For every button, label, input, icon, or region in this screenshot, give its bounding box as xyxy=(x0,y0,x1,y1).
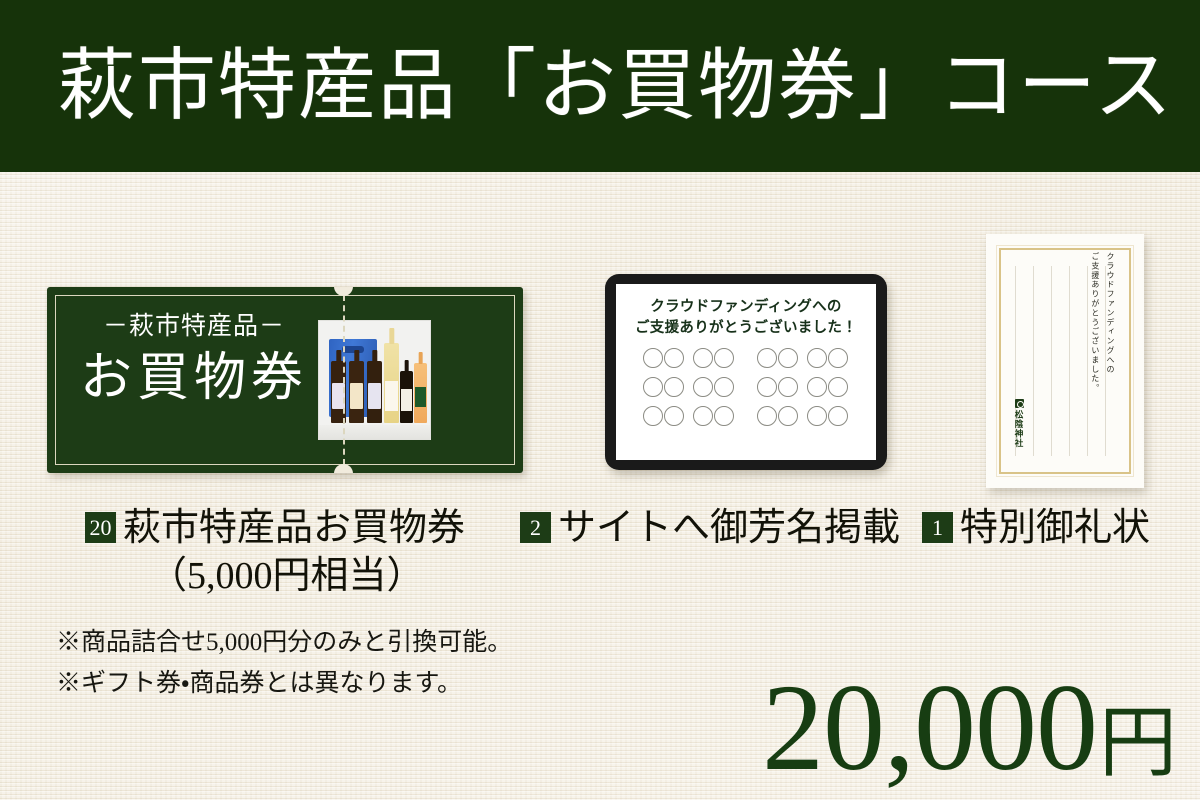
reward-item-name-listing: 2 サイトへ御芳名掲載 xyxy=(520,505,900,553)
soy-sauce-bottle-icon xyxy=(400,371,413,423)
name-circle xyxy=(664,348,684,368)
reward-label: 特別御礼状 xyxy=(960,505,1150,553)
letter-ruling xyxy=(1051,266,1052,456)
name-circle xyxy=(807,406,827,426)
quantity-badge: 20 xyxy=(85,512,116,543)
seal-mark-icon xyxy=(1015,399,1024,408)
name-circle xyxy=(714,406,734,426)
note-line: ※ギフト券・商品券とは異なります。 xyxy=(56,664,512,705)
letter-ruling xyxy=(1069,266,1070,456)
voucher-main-label: お買物券 xyxy=(69,349,319,409)
name-circle xyxy=(778,377,798,397)
name-circle xyxy=(757,377,777,397)
name-circle xyxy=(714,348,734,368)
grid-row xyxy=(628,348,864,368)
shopping-voucher-card: －萩市特産品－ お買物券 xyxy=(47,287,523,473)
price-currency: 円 xyxy=(1099,704,1176,782)
reward-item-thank-you-letter: 1 特別御礼状 xyxy=(922,505,1150,553)
letter-ruling xyxy=(1033,266,1034,456)
thank-you-letter: クラウドファンディングへの ご支援ありがとうございました。 松陰神社 xyxy=(986,234,1144,488)
quantity-badge: 2 xyxy=(520,512,551,543)
reward-caption-row: 20 萩市特産品お買物券 （5,000円相当） 2 サイトへ御芳名掲載 1 特別… xyxy=(0,505,1200,600)
name-circle xyxy=(828,377,848,397)
tablet-message-line1: クラウドファンディングへの xyxy=(616,297,876,318)
name-circle xyxy=(757,348,777,368)
name-circle xyxy=(828,406,848,426)
name-circle xyxy=(664,406,684,426)
name-circle xyxy=(693,348,713,368)
tablet-screen: クラウドファンディングへの ご支援ありがとうございました！ xyxy=(616,284,876,460)
notes-block: ※商品詰合せ5,000円分のみと引換可能。 ※ギフト券・商品券とは異なります。 xyxy=(56,623,512,704)
letter-text-line1: クラウドファンディングへの xyxy=(1103,252,1118,442)
page-title: 萩市特産品「お買物券」コース xyxy=(0,47,1174,125)
shrine-seal: 松陰神社 xyxy=(1013,399,1025,448)
reward-item-voucher: 20 萩市特産品お買物券 （5,000円相当） xyxy=(85,505,465,600)
tablet-message-line2: ご支援ありがとうございました！ xyxy=(616,318,876,339)
grid-row xyxy=(628,377,864,397)
name-circle xyxy=(643,377,663,397)
name-circle xyxy=(643,348,663,368)
name-circle xyxy=(693,377,713,397)
course-card-page: 萩市特産品「お買物券」コース －萩市特産品－ お買物券 クラウドファンディングへ… xyxy=(0,0,1200,800)
name-circle xyxy=(714,377,734,397)
reward-label: 萩市特産品お買物券 （5,000円相当） xyxy=(123,505,465,600)
reward-label-line2: （5,000円相当） xyxy=(123,555,425,597)
wine-bottle-icon xyxy=(384,343,399,423)
grid-row xyxy=(628,406,864,426)
name-circle xyxy=(664,377,684,397)
voucher-sub-label: －萩市特産品－ xyxy=(69,313,319,341)
name-circle xyxy=(778,348,798,368)
reward-label: サイトへ御芳名掲載 xyxy=(558,505,900,553)
name-circle xyxy=(807,348,827,368)
beer-bottle-icon xyxy=(367,361,382,423)
perforation-notch-top xyxy=(334,287,353,296)
reward-label-line1: 萩市特産品お買物券 xyxy=(123,507,465,549)
supporter-name-grid xyxy=(616,348,876,426)
voucher-text-block: －萩市特産品－ お買物券 xyxy=(69,313,319,408)
note-line: ※商品詰合せ5,000円分のみと引換可能。 xyxy=(56,623,512,664)
header-band: 萩市特産品「お買物券」コース xyxy=(0,0,1200,172)
perforation-notch-bottom xyxy=(334,464,353,473)
seal-name: 松陰神社 xyxy=(1013,410,1025,448)
letter-text-line2: ご支援ありがとうございました。 xyxy=(1088,252,1103,442)
price-amount: 20,000円 xyxy=(762,666,1176,790)
beer-bottle-icon xyxy=(349,361,364,423)
letter-text: クラウドファンディングへの ご支援ありがとうございました。 xyxy=(1088,252,1118,442)
tablet-device: クラウドファンディングへの ご支援ありがとうございました！ xyxy=(605,274,887,470)
tablet-message: クラウドファンディングへの ご支援ありがとうございました！ xyxy=(616,284,876,339)
name-circle xyxy=(807,377,827,397)
photo-surface xyxy=(319,425,430,439)
perforation-line xyxy=(343,295,345,465)
quantity-badge: 1 xyxy=(922,512,953,543)
name-circle xyxy=(778,406,798,426)
name-circle xyxy=(757,406,777,426)
name-circle xyxy=(643,406,663,426)
name-circle xyxy=(693,406,713,426)
product-photo xyxy=(318,320,431,440)
price-number: 20,000 xyxy=(762,666,1097,790)
name-circle xyxy=(828,348,848,368)
juice-bottle-icon xyxy=(414,363,427,423)
